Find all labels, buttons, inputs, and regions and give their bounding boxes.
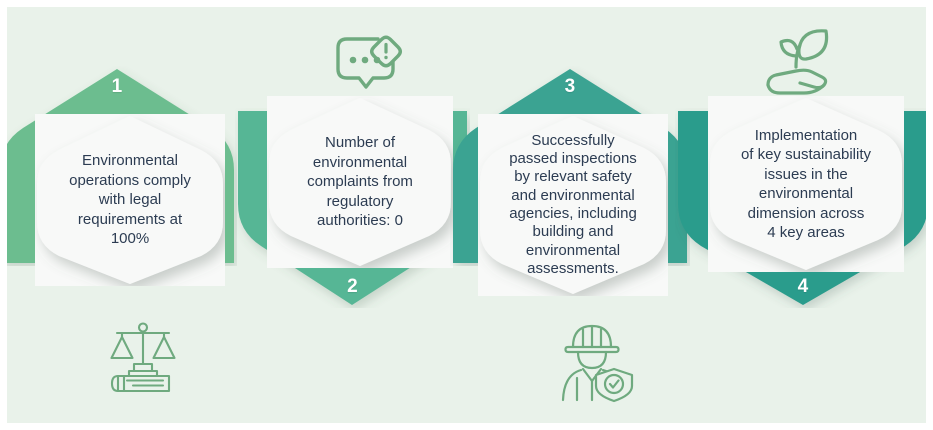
hand-holding-plant-icon [760, 23, 840, 97]
step-1-number: 1 [7, 76, 237, 98]
step-3-number: 3 [450, 76, 690, 98]
step-4-card[interactable]: Implementation of key sustainability iss… [708, 96, 904, 272]
step-2[interactable]: 2 Number of environmental complaints fro… [235, 108, 470, 308]
step-2-text: Number of environmental complaints from … [267, 133, 453, 231]
step-2-card[interactable]: Number of environmental complaints from … [267, 96, 453, 268]
step-3[interactable]: 3 Successfully passed inspections by rel… [450, 66, 690, 266]
step-4-text: Implementation of key sustainability iss… [708, 126, 904, 243]
step-2-number: 2 [235, 276, 470, 298]
step-3-card[interactable]: Successfully passed inspections by relev… [478, 114, 668, 296]
step-4[interactable]: 4 Implementation of key sustainability i… [675, 108, 926, 308]
step-1[interactable]: 1 Environmental operations comply with l… [7, 66, 237, 266]
step-1-card[interactable]: Environmental operations comply with leg… [35, 114, 225, 286]
safety-worker-shield-icon [556, 321, 638, 403]
infographic-canvas: 1 Environmental operations comply with l… [0, 0, 933, 430]
infographic-panel: 1 Environmental operations comply with l… [7, 7, 926, 423]
step-1-text: Environmental operations comply with leg… [35, 151, 225, 249]
step-4-number: 4 [675, 276, 926, 298]
step-3-text: Successfully passed inspections by relev… [478, 132, 668, 278]
scales-of-justice-icon [103, 317, 183, 397]
comment-alert-icon [332, 27, 404, 95]
